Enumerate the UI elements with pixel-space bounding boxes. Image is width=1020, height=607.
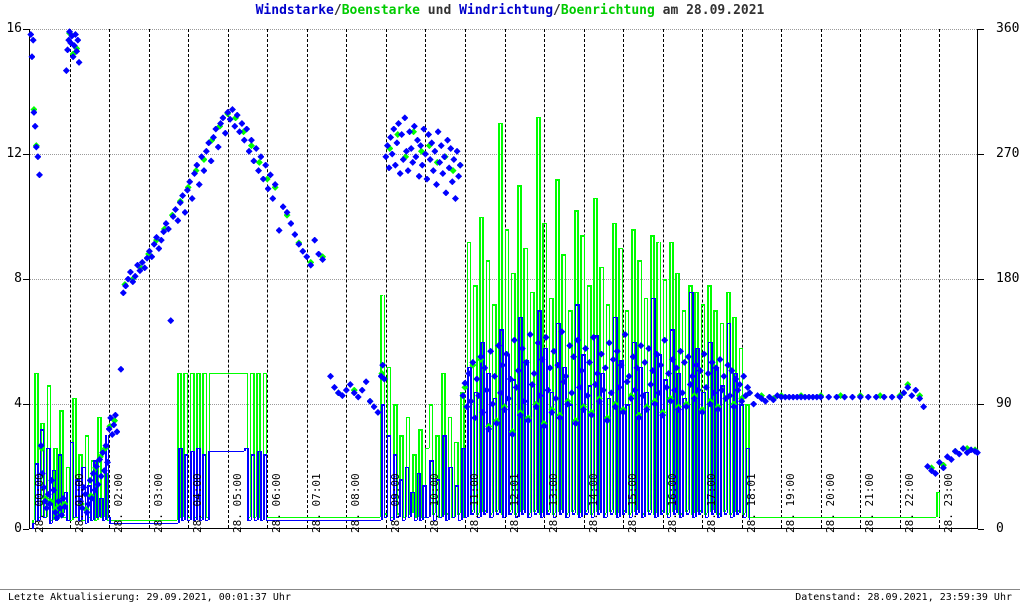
x-label: 28. 23:00 (942, 473, 955, 533)
data-point-diamond (32, 123, 39, 130)
step-segment (724, 385, 726, 513)
step-segment (610, 398, 612, 514)
step-segment (616, 517, 619, 519)
data-point-diamond (409, 159, 416, 166)
data-point-diamond (431, 148, 438, 155)
step-segment (251, 454, 253, 520)
data-point-diamond (174, 217, 181, 224)
title-date: 28.09.2021 (686, 3, 764, 18)
x-label: 28. 20:00 (824, 473, 837, 533)
step-segment (208, 451, 244, 453)
step-segment (377, 517, 380, 519)
step-segment (692, 517, 695, 519)
step-segment (422, 485, 424, 519)
step-segment (651, 298, 653, 514)
data-point-diamond (750, 401, 757, 408)
data-point-diamond (262, 162, 269, 169)
y-label-right: 90 (996, 396, 1020, 411)
step-segment (531, 385, 533, 516)
data-point-diamond (386, 164, 393, 171)
step-segment (581, 354, 583, 517)
data-point-diamond (189, 195, 196, 202)
step-segment (247, 520, 250, 522)
data-point-diamond (414, 137, 421, 144)
step-segment (565, 517, 568, 519)
y-label-right: 270 (996, 146, 1020, 161)
step-segment (692, 292, 694, 517)
data-point-diamond (222, 130, 229, 137)
step-segment (99, 498, 101, 517)
y-tick-left (23, 279, 29, 280)
step-segment (445, 520, 448, 522)
step-segment (641, 517, 644, 519)
data-point-diamond (849, 394, 856, 401)
step-segment (505, 354, 507, 517)
data-point-diamond (412, 153, 419, 160)
data-point-diamond (439, 170, 446, 177)
step-segment (405, 467, 407, 520)
x-label: 28. 01:00 (73, 473, 86, 533)
step-segment (209, 373, 244, 375)
data-layer (30, 29, 977, 528)
x-label: 28. 16:00 (666, 473, 679, 533)
step-segment (464, 448, 466, 517)
step-segment (414, 520, 417, 522)
data-point-diamond (33, 144, 40, 151)
data-point-diamond (248, 137, 255, 144)
data-point-diamond (250, 157, 257, 164)
x-label: 28. 10:00 (428, 473, 441, 533)
x-label: 28. 14:00 (587, 473, 600, 533)
data-point-diamond (311, 237, 318, 244)
step-segment (263, 454, 265, 520)
data-point-diamond (401, 114, 408, 121)
step-segment (384, 404, 386, 517)
data-point-diamond (291, 231, 298, 238)
y-label-right: 360 (996, 21, 1020, 36)
step-segment (464, 517, 467, 519)
step-segment (622, 360, 624, 513)
data-point-diamond (231, 123, 238, 130)
data-point-diamond (193, 162, 200, 169)
step-segment (184, 454, 186, 520)
step-segment (730, 323, 732, 517)
data-point-diamond (36, 171, 43, 178)
data-point-diamond (347, 381, 354, 388)
y-tick-right (978, 154, 984, 155)
data-point-diamond (423, 176, 430, 183)
step-segment (575, 304, 577, 513)
step-segment (94, 520, 97, 522)
step-segment (939, 492, 941, 517)
step-segment (572, 513, 575, 515)
data-point-diamond (172, 206, 179, 213)
step-segment (720, 385, 722, 516)
step-segment (648, 513, 651, 515)
y-label-left: 8 (0, 271, 22, 286)
data-point-diamond (427, 156, 434, 163)
step-segment (565, 367, 567, 517)
data-point-diamond (76, 59, 83, 66)
step-segment (727, 323, 729, 514)
data-point-diamond (255, 167, 262, 174)
step-segment (66, 520, 69, 522)
step-segment (102, 498, 104, 520)
data-point-diamond (397, 170, 404, 177)
step-segment (96, 517, 99, 519)
step-segment (425, 485, 427, 516)
step-segment (613, 317, 615, 514)
data-point-diamond (444, 137, 451, 144)
data-point-diamond (455, 173, 462, 180)
data-point-diamond (299, 248, 306, 255)
data-point-diamond (276, 227, 283, 234)
data-point-diamond (417, 142, 424, 149)
step-segment (442, 435, 444, 516)
plot-area (29, 29, 978, 529)
title-date-prefix: am (655, 3, 686, 18)
wind-chart-page: Windstarke/Boenstarke und Windrichtung/B… (0, 0, 1020, 606)
data-point-diamond (28, 53, 35, 60)
step-segment (493, 398, 495, 517)
data-point-diamond (441, 153, 448, 160)
step-segment (247, 448, 249, 520)
step-segment (208, 451, 210, 520)
data-point-diamond (857, 394, 864, 401)
step-segment (657, 354, 659, 517)
step-segment (205, 454, 207, 520)
data-point-diamond (303, 253, 310, 260)
data-point-diamond (433, 181, 440, 188)
data-point-diamond (241, 137, 248, 144)
data-point-diamond (435, 128, 442, 135)
step-segment (934, 517, 936, 519)
step-segment (724, 513, 727, 515)
step-segment (610, 513, 613, 515)
data-point-diamond (177, 199, 184, 206)
step-segment (187, 520, 191, 522)
step-segment (461, 448, 463, 520)
y-tick-right (978, 279, 984, 280)
step-segment (402, 520, 405, 522)
data-point-diamond (406, 128, 413, 135)
step-segment (619, 360, 621, 516)
data-point-diamond (889, 394, 896, 401)
data-point-diamond (430, 167, 437, 174)
step-segment (936, 492, 938, 517)
y-label-left: 16 (0, 21, 22, 36)
x-label: 28. 21:00 (863, 473, 876, 533)
data-point-diamond (457, 162, 464, 169)
step-segment (429, 404, 431, 448)
step-segment (679, 517, 682, 519)
step-segment (689, 292, 691, 514)
x-label: 28. 12:01 (508, 473, 521, 533)
data-point-diamond (454, 148, 461, 155)
step-segment (387, 435, 389, 516)
step-segment (603, 517, 606, 519)
step-segment (527, 517, 530, 519)
step-segment (266, 454, 268, 520)
x-label: 28. 19:00 (784, 473, 797, 533)
data-point-diamond (359, 387, 366, 394)
data-point-diamond (287, 220, 294, 227)
step-segment (445, 435, 447, 519)
data-point-diamond (280, 203, 287, 210)
step-segment (178, 448, 180, 523)
step-segment (521, 513, 524, 515)
step-segment (486, 373, 488, 514)
title-winddirection: Windrichtung (459, 3, 553, 18)
data-point-diamond (438, 142, 445, 149)
data-point-diamond (395, 120, 402, 127)
step-segment (641, 367, 643, 517)
step-segment (455, 485, 457, 516)
data-point-diamond (363, 378, 370, 385)
data-point-diamond (449, 178, 456, 185)
step-segment (496, 513, 499, 515)
step-segment (181, 520, 184, 522)
step-segment (540, 310, 542, 516)
step-segment (90, 520, 93, 522)
y-tick-right (978, 29, 984, 30)
data-point-diamond (416, 173, 423, 180)
step-segment (417, 473, 419, 520)
x-label: 28. 07:01 (310, 473, 323, 533)
y-tick-left (23, 29, 29, 30)
data-point-diamond (367, 398, 374, 405)
step-segment (698, 513, 701, 515)
data-point-diamond (382, 153, 389, 160)
data-point-diamond (167, 317, 174, 324)
data-point-diamond (865, 394, 872, 401)
x-label: 28. 06:00 (270, 473, 283, 533)
step-segment (686, 513, 689, 515)
data-point-diamond (393, 139, 400, 146)
title-separator-2: / (553, 3, 561, 18)
data-point-diamond (343, 387, 350, 394)
data-point-diamond (419, 162, 426, 169)
step-segment (181, 448, 183, 520)
step-segment (730, 517, 733, 519)
title-windspeed: Windstarke (256, 3, 334, 18)
step-segment (70, 442, 72, 520)
step-segment (502, 329, 504, 517)
chart-title: Windstarke/Boenstarke und Windrichtung/B… (0, 3, 1020, 18)
step-segment (410, 492, 412, 517)
step-segment (654, 517, 657, 519)
x-label: 28. 11:00 (468, 473, 481, 533)
data-point-diamond (127, 269, 134, 276)
y-label-left: 12 (0, 146, 22, 161)
step-segment (254, 520, 257, 522)
title-conjunction: und (420, 3, 459, 18)
step-segment (736, 513, 739, 515)
x-label: 28. 08:00 (349, 473, 362, 533)
x-label: 28. 15:00 (626, 473, 639, 533)
step-segment (414, 492, 416, 520)
step-segment (743, 404, 745, 517)
data-point-diamond (447, 145, 454, 152)
data-point-diamond (908, 392, 915, 399)
x-label: 28. 00:00 (33, 473, 46, 533)
step-segment (686, 398, 688, 514)
title-gustspeed: Boenstarke (342, 3, 420, 18)
step-segment (616, 317, 618, 517)
data-point-diamond (371, 403, 378, 410)
title-separator-1: / (334, 3, 342, 18)
data-point-diamond (420, 126, 427, 133)
step-segment (622, 513, 625, 515)
step-segment (378, 520, 381, 522)
step-segment (489, 373, 491, 517)
y-tick-left (23, 529, 29, 530)
data-point-diamond (196, 181, 203, 188)
data-point-diamond (215, 144, 222, 151)
step-segment (187, 454, 189, 520)
y-tick-left (23, 154, 29, 155)
data-point-diamond (442, 189, 449, 196)
step-segment (733, 373, 735, 517)
step-segment (578, 517, 581, 519)
data-point-diamond (450, 156, 457, 163)
step-segment (695, 348, 697, 517)
data-point-diamond (912, 387, 919, 394)
step-segment (49, 448, 51, 523)
data-point-diamond (200, 167, 207, 174)
x-label: 28. 02:00 (112, 473, 125, 533)
step-segment (108, 435, 110, 516)
data-point-diamond (186, 178, 193, 185)
step-segment (419, 473, 421, 520)
step-segment (682, 398, 684, 517)
data-point-diamond (260, 176, 267, 183)
step-segment (102, 520, 105, 522)
step-segment (408, 517, 411, 519)
step-segment (562, 367, 564, 514)
data-point-diamond (405, 167, 412, 174)
step-segment (425, 448, 429, 450)
step-segment (260, 520, 263, 522)
step-segment (49, 523, 52, 525)
y-tick-right (978, 404, 984, 405)
footer-bar: Letzte Aktualisierung: 29.09.2021, 00:01… (0, 589, 1020, 607)
x-label: 28. 04:00 (191, 473, 204, 533)
step-segment (540, 517, 543, 519)
step-segment (254, 454, 256, 520)
step-segment (736, 373, 738, 514)
data-point-diamond (34, 153, 41, 160)
data-point-diamond (411, 123, 418, 130)
data-point-diamond (387, 134, 394, 141)
y-label-left: 4 (0, 396, 22, 411)
data-point-diamond (817, 394, 824, 401)
step-segment (257, 451, 259, 520)
x-label: 28. 09:00 (389, 473, 402, 533)
step-segment (458, 520, 461, 522)
step-segment (584, 354, 586, 513)
data-point-diamond (236, 128, 243, 135)
step-segment (502, 517, 505, 519)
data-point-diamond (117, 366, 124, 373)
step-segment (205, 520, 208, 522)
step-segment (448, 467, 450, 520)
step-segment (496, 398, 498, 514)
y-label-right: 0 (996, 521, 1020, 536)
data-point-diamond (331, 384, 338, 391)
x-label: 28. 05:00 (231, 473, 244, 533)
step-segment (660, 513, 663, 515)
data-point-diamond (257, 153, 264, 160)
data-point-diamond (295, 241, 302, 248)
data-point-diamond (825, 394, 832, 401)
data-point-diamond (744, 384, 751, 391)
step-segment (384, 517, 387, 519)
data-state-text: Datenstand: 28.09.2021, 23:59:39 Uhr (795, 592, 1012, 603)
data-point-diamond (64, 46, 71, 53)
step-segment (527, 360, 529, 516)
step-segment (534, 513, 537, 515)
data-point-diamond (920, 403, 927, 410)
data-point-diamond (269, 195, 276, 202)
step-segment (600, 373, 602, 514)
step-segment (260, 451, 262, 520)
step-segment (381, 404, 383, 520)
step-segment (603, 373, 605, 517)
data-point-diamond (425, 131, 432, 138)
data-point-diamond (208, 157, 215, 164)
step-segment (452, 517, 455, 519)
step-segment (660, 354, 662, 513)
data-point-diamond (392, 162, 399, 169)
x-label: 28. 13:00 (547, 473, 560, 533)
x-label: 28. 22:00 (903, 473, 916, 533)
x-label: 28. 03:00 (152, 473, 165, 533)
y-tick-right (978, 529, 984, 530)
data-point-diamond (256, 159, 263, 166)
data-point-diamond (120, 289, 127, 296)
data-point-diamond (452, 195, 459, 202)
step-segment (578, 304, 580, 517)
last-update-text: Letzte Aktualisierung: 29.09.2021, 00:01… (8, 592, 291, 603)
title-gustdirection: Boenrichtung (561, 3, 655, 18)
y-label-left: 0 (0, 521, 22, 536)
step-segment (489, 517, 492, 519)
data-point-diamond (203, 148, 210, 155)
step-segment (483, 513, 486, 515)
step-segment (739, 404, 741, 513)
data-point-diamond (155, 245, 162, 252)
data-point-diamond (182, 209, 189, 216)
step-segment (543, 348, 545, 517)
y-tick-left (23, 404, 29, 405)
step-segment (408, 467, 410, 517)
step-segment (452, 467, 454, 517)
step-segment (419, 520, 422, 522)
data-point-diamond (398, 131, 405, 138)
data-point-diamond (238, 120, 245, 127)
step-segment (569, 404, 571, 517)
x-label: 28. 17:00 (705, 473, 718, 533)
y-label-right: 180 (996, 271, 1020, 286)
x-label: 28. 18:01 (745, 473, 758, 533)
step-segment (524, 360, 526, 513)
data-point-diamond (390, 126, 397, 133)
data-point-diamond (63, 67, 70, 74)
step-segment (458, 485, 460, 519)
step-segment (663, 379, 665, 513)
data-point-diamond (265, 185, 272, 192)
